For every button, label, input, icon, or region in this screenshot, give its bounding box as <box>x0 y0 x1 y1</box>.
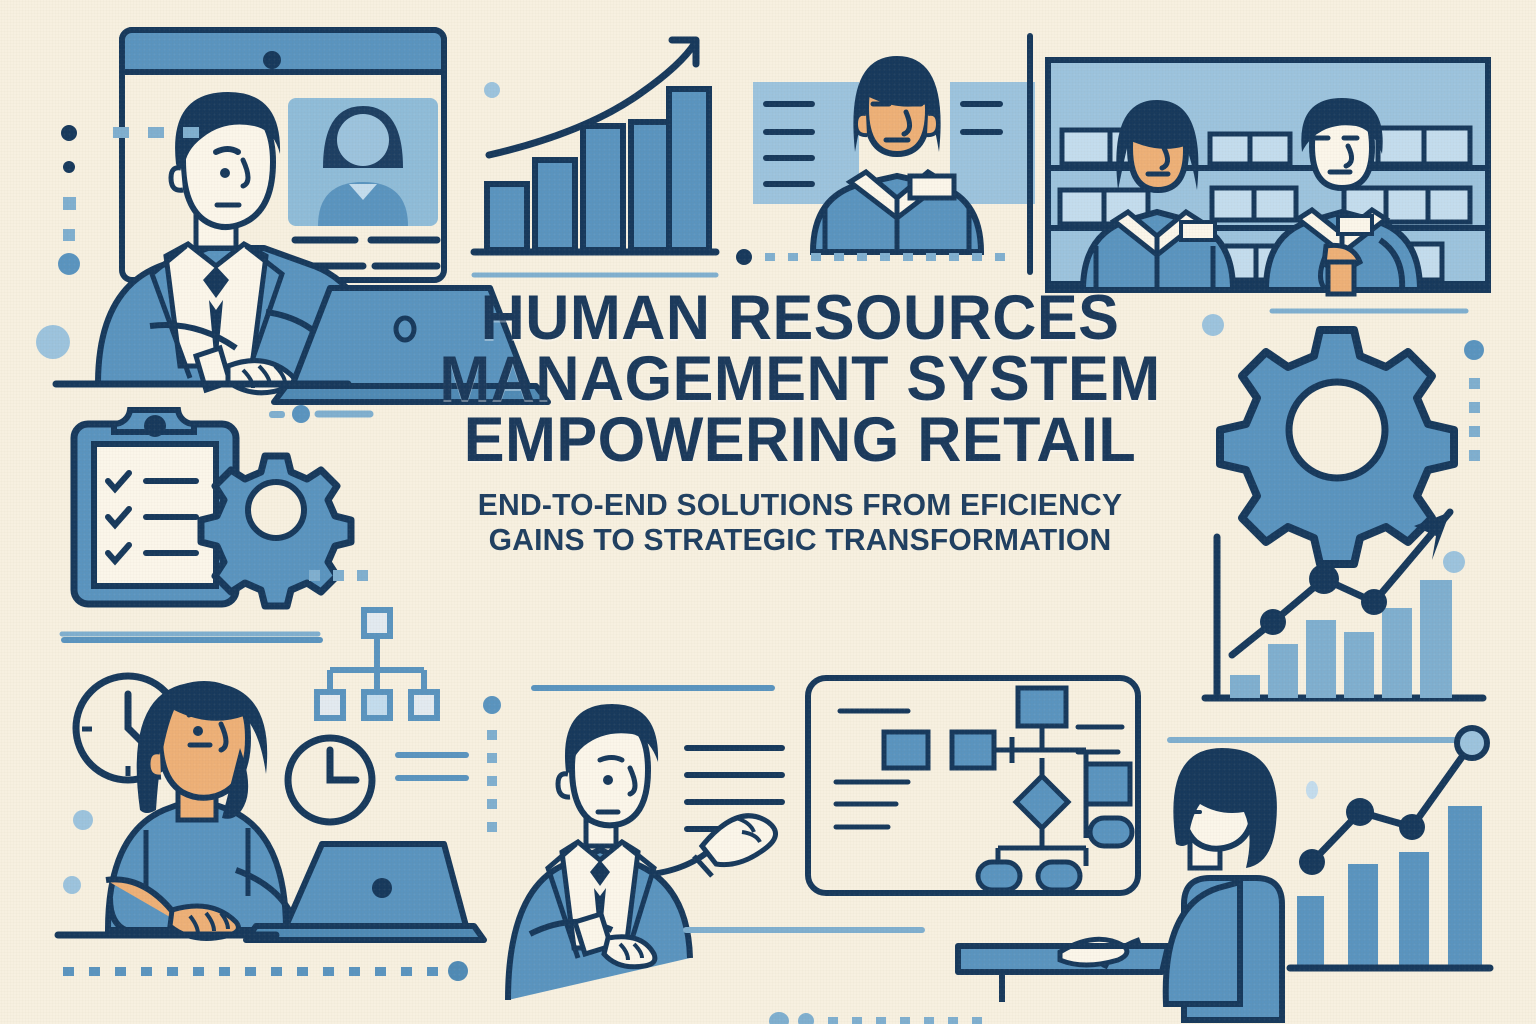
accent-square <box>487 799 497 809</box>
accent-square <box>1469 450 1480 461</box>
accent-dot <box>769 1012 789 1024</box>
accent-square <box>487 730 497 740</box>
accent-square <box>487 776 497 786</box>
accent-square <box>63 229 75 241</box>
accent-square <box>1469 402 1480 413</box>
accent-square <box>63 197 76 210</box>
webcam-dot <box>263 51 281 69</box>
chart-bars <box>1297 806 1482 968</box>
clock-icon-small <box>288 738 372 822</box>
accent-dot <box>63 161 75 173</box>
side-text-lines <box>398 755 466 778</box>
accent-square <box>1469 426 1480 437</box>
employee-laptop-illustration <box>58 610 484 940</box>
accent-dot <box>292 405 310 423</box>
accent-dot <box>448 961 468 981</box>
accent-dot <box>61 125 77 141</box>
chart-end-point <box>1457 728 1487 758</box>
title-line-1: HUMAN RESOURCES <box>412 288 1188 349</box>
accent-square <box>183 127 199 138</box>
accent-dot <box>736 249 752 265</box>
flowchart-panel <box>808 678 1138 893</box>
accent-square <box>487 822 497 832</box>
accent-dot <box>36 325 70 359</box>
dotted-row-bottom-left <box>63 967 438 976</box>
accent-dot <box>483 696 501 714</box>
accent-square <box>148 127 164 138</box>
accent-dot <box>1202 314 1224 336</box>
accent-dot <box>798 1013 814 1024</box>
growth-bar-chart <box>474 40 716 275</box>
accent-square <box>357 570 368 581</box>
accent-square <box>487 753 497 763</box>
poster-subtitle-block: END-TO-END SOLUTIONS FROM EFICIENCY GAIN… <box>400 488 1200 557</box>
gear-icon <box>201 456 351 606</box>
woman-at-laptop-figure <box>106 682 294 938</box>
accent-dot <box>1443 551 1465 573</box>
subtitle-line-1: END-TO-END SOLUTIONS FROM EFICIENCY <box>412 488 1188 523</box>
gear-performance-illustration <box>1205 311 1483 698</box>
accent-dot <box>73 810 93 830</box>
accent-dot <box>58 253 80 275</box>
name-badge <box>1338 216 1372 234</box>
chart-bars <box>1230 580 1452 698</box>
accent-dot <box>1306 781 1318 799</box>
accent-dot <box>1464 340 1484 360</box>
retail-employee-portrait <box>753 56 1035 252</box>
accent-square <box>333 570 344 581</box>
title-line-3: EMPOWERING RETAIL <box>412 410 1188 471</box>
accent-dot <box>484 82 500 98</box>
name-badge <box>910 176 954 198</box>
accent-dash <box>269 411 285 418</box>
subtitle-line-2: GAINS TO STRATEGIC TRANSFORMATION <box>412 523 1188 558</box>
clipboard-clip-dot <box>144 415 166 437</box>
accent-dot <box>63 876 81 894</box>
gear-icon-large <box>1220 330 1454 564</box>
poster-title-block: HUMAN RESOURCES MANAGEMENT SYSTEM EMPOWE… <box>400 288 1200 558</box>
checklist-clipboard-illustration <box>62 410 351 634</box>
profile-photo-card <box>288 98 438 226</box>
accent-square <box>309 570 320 581</box>
retail-staff-scene <box>1048 60 1488 294</box>
title-line-2: MANAGEMENT SYSTEM <box>412 349 1188 410</box>
infographic-poster: HUMAN RESOURCES MANAGEMENT SYSTEM EMPOWE… <box>0 0 1536 1024</box>
chart-bars <box>487 89 709 250</box>
accent-dot <box>276 566 294 584</box>
accent-square <box>1469 378 1480 389</box>
accent-square <box>113 127 129 138</box>
name-badge <box>1181 222 1215 240</box>
dotted-row-bottom-center <box>828 1017 982 1024</box>
